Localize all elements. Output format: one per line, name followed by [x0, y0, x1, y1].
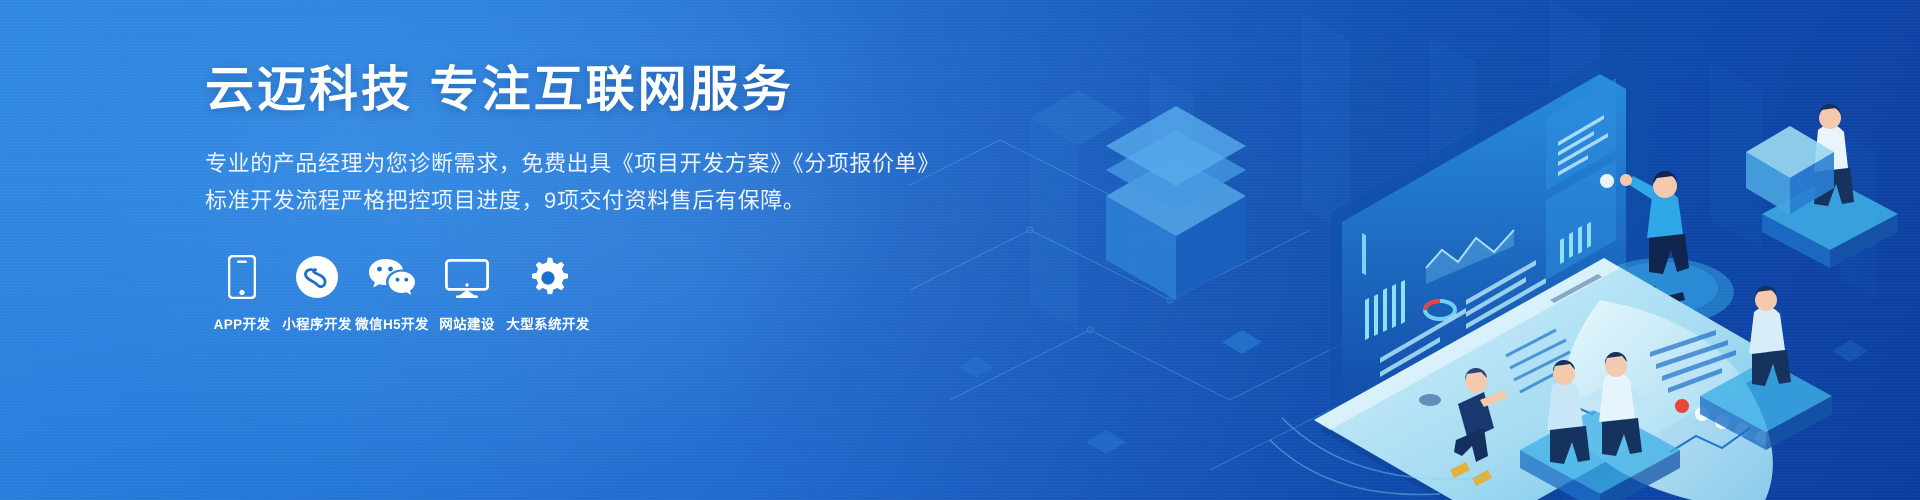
person-on-platform-2 [1749, 286, 1791, 386]
page-title: 云迈科技 专注互联网服务 [205, 62, 925, 120]
subtitle-line-2: 标准开发流程严格把控项目进度，9项交付资料售后有保障。 [205, 183, 925, 219]
monitor-icon [445, 253, 489, 299]
service-item-wechat-h5[interactable]: 微信H5开发 [355, 253, 429, 333]
service-item-website[interactable]: 网站建设 [430, 253, 504, 333]
service-label: 微信H5开发 [355, 313, 429, 333]
subtitle-line-1: 专业的产品经理为您诊断需求，免费出具《项目开发方案》《分项报价单》 [205, 146, 925, 182]
service-item-mini-program[interactable]: 小程序开发 [280, 253, 354, 333]
banner-content: 云迈科技 专注互联网服务 专业的产品经理为您诊断需求，免费出具《项目开发方案》《… [205, 62, 925, 333]
mini-program-icon [295, 253, 339, 299]
wechat-icon [368, 253, 416, 299]
isometric-tech-illustration [910, 0, 1920, 500]
service-label: APP开发 [214, 313, 271, 333]
service-item-large-system[interactable]: 大型系统开发 [505, 253, 591, 333]
service-label: 网站建设 [439, 313, 495, 333]
service-item-app[interactable]: APP开发 [205, 253, 279, 333]
mobile-phone-icon [228, 253, 256, 299]
service-list: APP开发 小程序开发 [205, 253, 925, 333]
service-label: 大型系统开发 [506, 313, 589, 333]
server-stack-shape [1106, 106, 1246, 300]
service-label: 小程序开发 [282, 313, 352, 333]
gear-icon [527, 253, 569, 299]
promo-banner: 云迈科技 专注互联网服务 专业的产品经理为您诊断需求，免费出具《项目开发方案》《… [0, 0, 1920, 500]
